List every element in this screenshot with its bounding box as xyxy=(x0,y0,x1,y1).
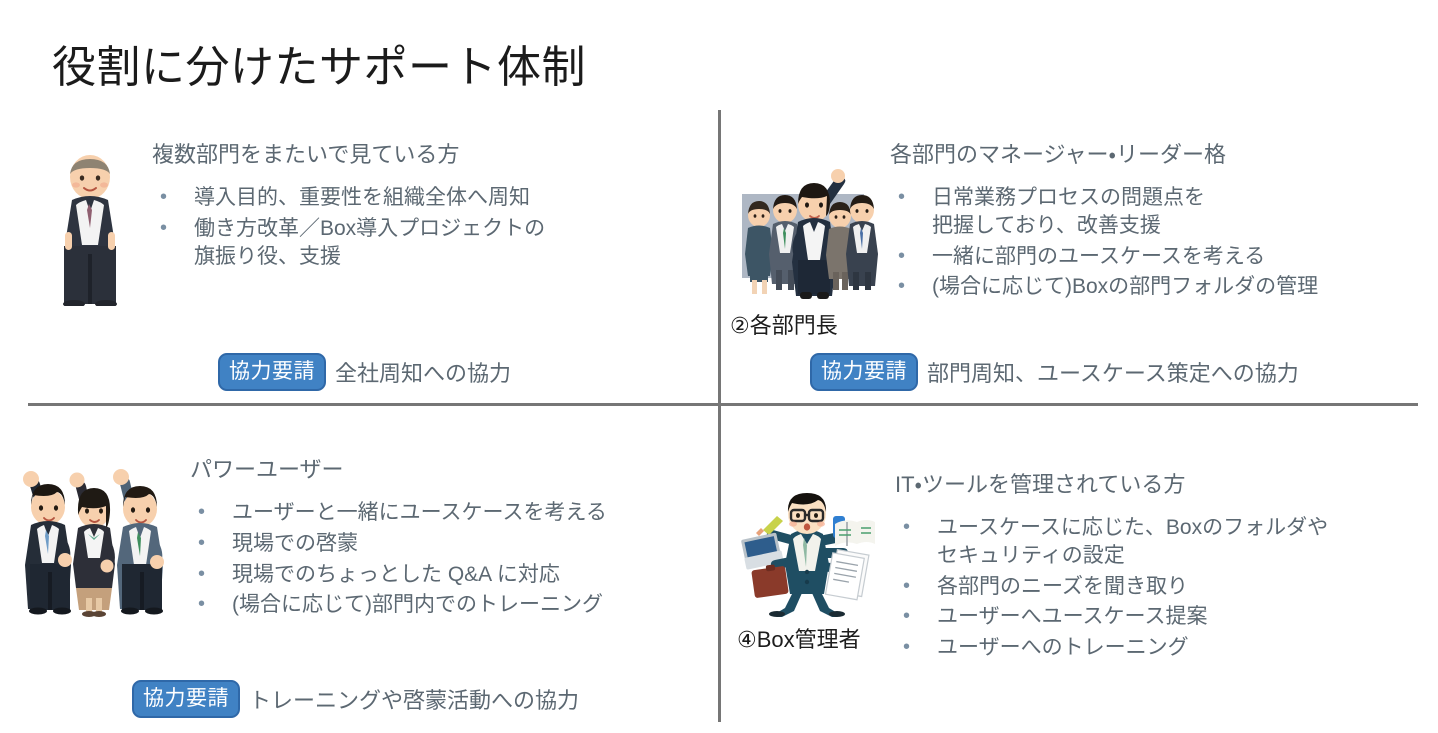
request-text: 部門周知、ユースケース策定への協力 xyxy=(927,356,1299,388)
duty-item: 働き方改革／Box導入プロジェクトの旗振り役、支援 xyxy=(152,215,712,271)
request-row-bottom-left: 協力要請 トレーニングや啓蒙活動への協力 xyxy=(132,680,579,718)
duty-item: (場合に応じて)部門内でのトレーニング xyxy=(190,591,710,619)
duty-item: ユースケースに応じた、Boxのフォルダやセキュリティの設定 xyxy=(895,514,1435,570)
duty-item: (場合に応じて)Boxの部門フォルダの管理 xyxy=(890,273,1430,301)
quadrant-bottom-right: ④Box管理者 IT・ツールを管理されている方 ユースケースに応じた、Boxのフ… xyxy=(735,470,1430,720)
duty-item: 各部門のニーズを聞き取り xyxy=(895,573,1435,601)
duty-item: 日常業務プロセスの問題点を把握しており、改善支援 xyxy=(890,184,1430,240)
duty-item: ユーザーへのトレーニング xyxy=(895,634,1435,662)
request-badge[interactable]: 協力要請 xyxy=(218,353,326,391)
persona-heading: 各部門のマネージャー・リーダー格 xyxy=(890,140,1430,170)
vertical-divider xyxy=(718,110,721,722)
text-column-top-left: 複数部門をまたいで見ている方 導入目的、重要性を組織全体へ周知 働き方改革／Bo… xyxy=(152,140,712,273)
business-team-leader-icon xyxy=(728,160,878,305)
slide-canvas: 役割に分けたサポート体制 xyxy=(0,0,1438,733)
persona-label-top-right: ②各部門長 xyxy=(730,308,838,340)
busy-it-admin-icon xyxy=(737,492,877,617)
request-text: 全社周知への協力 xyxy=(335,356,511,388)
duty-list: ユーザーと一緒にユースケースを考える 現場での啓蒙 現場でのちょっとした Q&A… xyxy=(190,499,710,620)
duty-item: 一緒に部門のユースケースを考える xyxy=(890,243,1430,271)
cheering-employees-icon xyxy=(8,460,180,620)
persona-heading: パワーユーザー xyxy=(190,455,710,485)
request-badge[interactable]: 協力要請 xyxy=(132,680,240,718)
persona-heading: 複数部門をまたいで見ている方 xyxy=(152,140,712,170)
duty-list: ユースケースに応じた、Boxのフォルダやセキュリティの設定 各部門のニーズを聞き… xyxy=(895,514,1435,663)
request-badge[interactable]: 協力要請 xyxy=(810,353,918,391)
page-title: 役割に分けたサポート体制 xyxy=(52,41,586,95)
horizontal-divider xyxy=(28,403,1418,406)
request-text: トレーニングや啓蒙活動への協力 xyxy=(249,683,579,715)
duty-item: 現場での啓蒙 xyxy=(190,530,710,558)
request-row-top-left: 協力要請 全社周知への協力 xyxy=(218,353,511,391)
duty-list: 導入目的、重要性を組織全体へ周知 働き方改革／Box導入プロジェクトの旗振り役、… xyxy=(152,184,712,271)
persona-heading: IT・ツールを管理されている方 xyxy=(895,470,1435,500)
persona-label-bottom-right: ④Box管理者 xyxy=(737,622,861,654)
duty-item: 導入目的、重要性を組織全体へ周知 xyxy=(152,184,712,212)
text-column-top-right: 各部門のマネージャー・リーダー格 日常業務プロセスの問題点を把握しており、改善支… xyxy=(890,140,1430,304)
duty-item: ユーザーへユースケース提案 xyxy=(895,603,1435,631)
request-row-top-right: 協力要請 部門周知、ユースケース策定への協力 xyxy=(810,353,1299,391)
duty-list: 日常業務プロセスの問題点を把握しており、改善支援 一緒に部門のユースケースを考え… xyxy=(890,184,1430,302)
duty-item: ユーザーと一緒にユースケースを考える xyxy=(190,499,710,527)
businessman-executive-icon xyxy=(52,154,128,306)
duty-item: 現場でのちょっとした Q&A に対応 xyxy=(190,561,710,589)
text-column-bottom-left: パワーユーザー ユーザーと一緒にユースケースを考える 現場での啓蒙 現場でのちょ… xyxy=(190,455,710,622)
text-column-bottom-right: IT・ツールを管理されている方 ユースケースに応じた、Boxのフォルダやセキュリ… xyxy=(895,470,1435,665)
